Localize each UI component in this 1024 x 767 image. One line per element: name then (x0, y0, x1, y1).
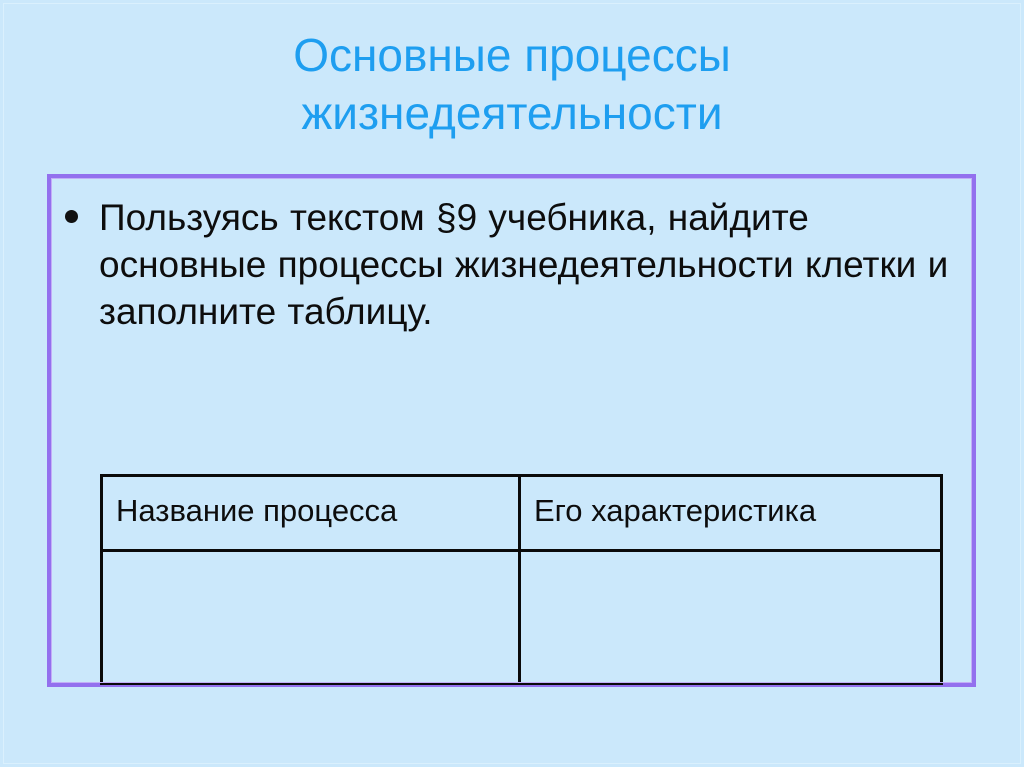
instruction-bullet-item: Пользуясь текстом §9 учебника, найдите о… (65, 194, 955, 335)
page-title-line-1: Основные процессы (0, 26, 1024, 84)
table-header-process-name: Название процесса (102, 476, 520, 551)
process-table-wrapper: Название процесса Его характеристика (100, 474, 940, 685)
slide: Основные процессы жизнедеятельности Поль… (0, 0, 1024, 767)
table-row (102, 551, 942, 684)
table-header-row: Название процесса Его характеристика (102, 476, 942, 551)
process-table: Название процесса Его характеристика (100, 474, 943, 685)
table-cell-process-name[interactable] (102, 551, 520, 684)
page-title: Основные процессы жизнедеятельности (0, 26, 1024, 142)
table-header-process-characteristic: Его характеристика (520, 476, 942, 551)
instruction-text: Пользуясь текстом §9 учебника, найдите о… (99, 194, 955, 335)
content-frame: Пользуясь текстом §9 учебника, найдите о… (47, 174, 976, 687)
bullet-dot-icon (65, 210, 78, 223)
page-title-line-2: жизнедеятельности (0, 84, 1024, 142)
table-cell-process-characteristic[interactable] (520, 551, 942, 684)
